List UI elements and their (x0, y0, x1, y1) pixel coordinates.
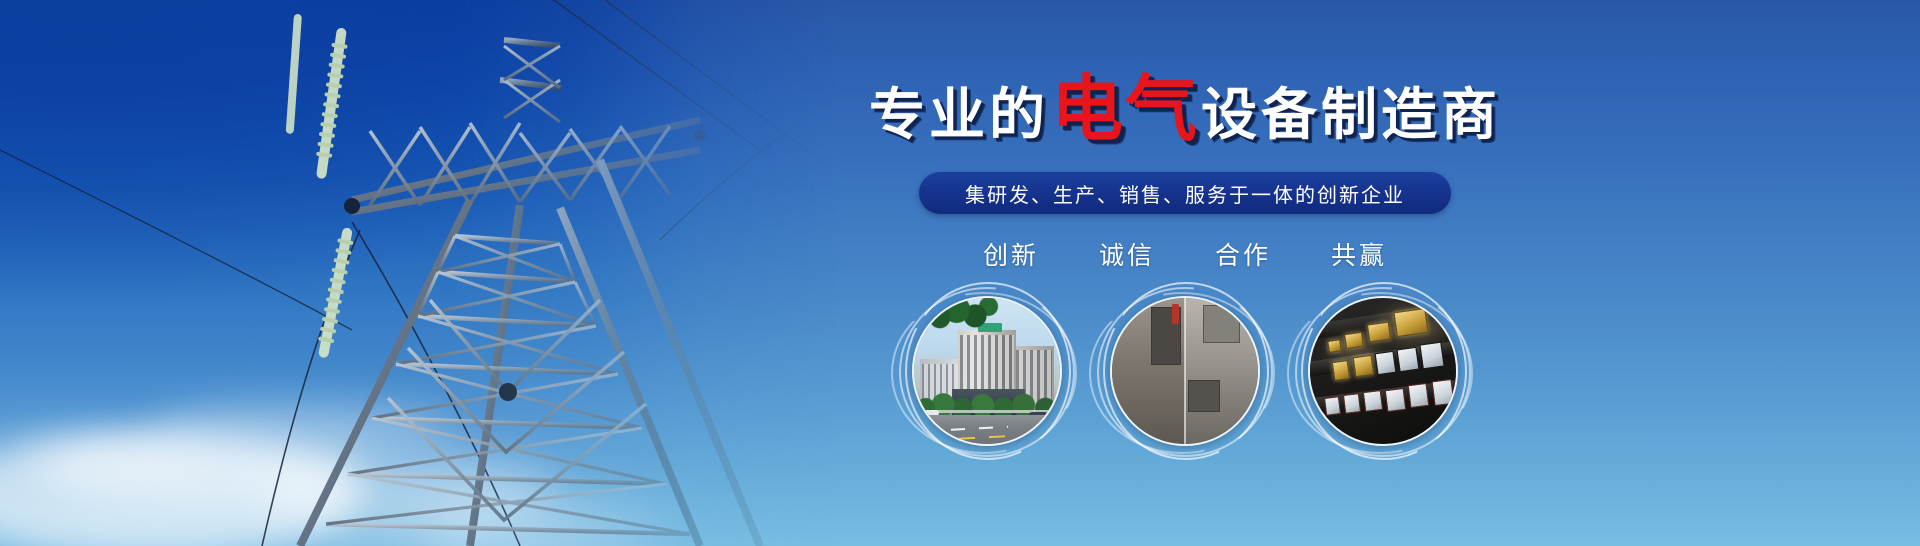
tagline-pill: 集研发、生产、销售、服务于一体的创新企业 (919, 172, 1451, 214)
headline-after: 设备制造商 (1201, 83, 1501, 146)
company-hero-banner: 专业的电气设备制造商 集研发、生产、销售、服务于一体的创新企业 创新 诚信 合作… (0, 0, 1920, 546)
headline-highlight: 电气 (1049, 70, 1201, 150)
certificate-wall-image (1310, 298, 1456, 444)
keyword-innovation: 创新 (983, 236, 1039, 272)
office-building-image (914, 298, 1060, 444)
transmission-tower-photo (0, 0, 880, 546)
technicians-image: 意联电气 意联电气 (1112, 298, 1258, 444)
headline: 专业的电气设备制造商 (869, 74, 1501, 146)
headline-before: 专业的 (869, 83, 1049, 146)
keyword-cooperation: 合作 (1215, 236, 1271, 272)
circle-office-building[interactable]: 公司办公大楼外景 (912, 296, 1062, 446)
keyword-winwin: 共赢 (1331, 236, 1387, 272)
keyword-integrity: 诚信 (1099, 236, 1155, 272)
banner-content: 专业的电气设备制造商 集研发、生产、销售、服务于一体的创新企业 创新 诚信 合作… (835, 0, 1535, 546)
foreground-foliage (923, 296, 1008, 333)
tower-legs (300, 160, 760, 546)
circle-certificate-wall[interactable]: 荣誉证书与奖牌展示墙 (1308, 296, 1458, 446)
tagline-text: 集研发、生产、销售、服务于一体的创新企业 (965, 179, 1405, 208)
photo-circle-group: 公司办公大楼外景 (912, 296, 1458, 446)
insulator-string (286, 14, 356, 359)
circle-technicians-at-work[interactable]: 意联电气 意联电气 两名身穿蓝色工装、戴红色安全帽的技术人员在 (1110, 296, 1260, 446)
transmission-tower-illustration (0, 0, 880, 546)
keyword-list: 创新 诚信 合作 共赢 (983, 236, 1387, 272)
